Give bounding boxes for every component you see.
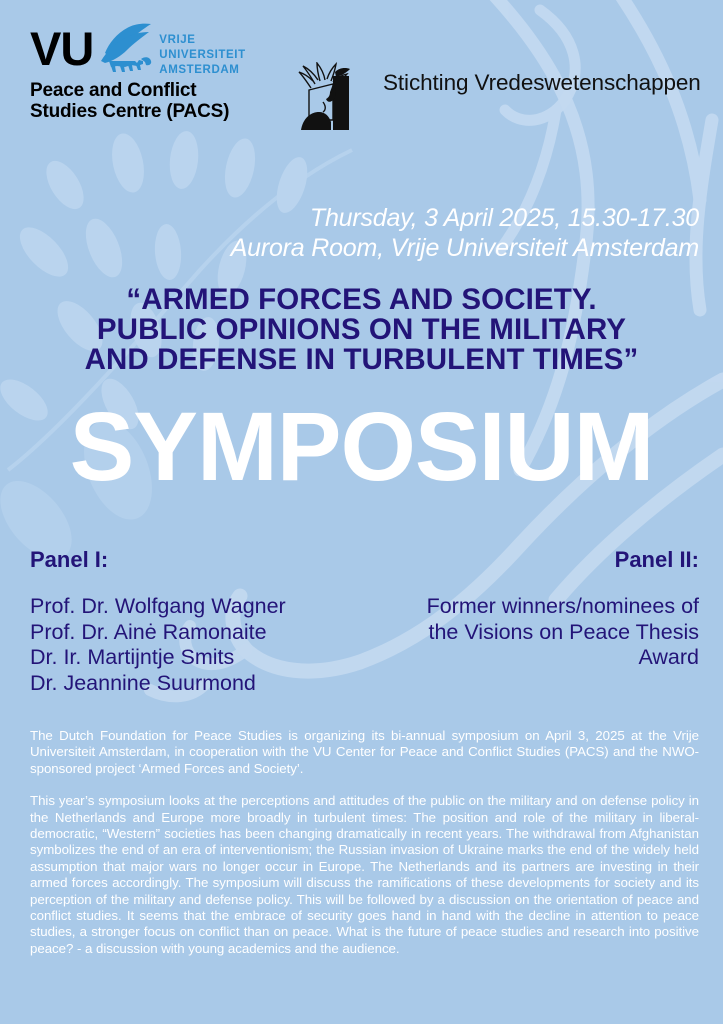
body-paragraph-2: This year’s symposium looks at the perce… (30, 793, 699, 957)
pacs-subtitle-line-1: Peace and Conflict (30, 80, 246, 101)
vu-griffin-icon (95, 23, 153, 78)
panel-1-speaker-2: Prof. Dr. Ainė Ramonaite (30, 620, 286, 646)
vu-logo-letters: VU (30, 27, 93, 71)
page-title-line-1: “ARMED FORCES AND SOCIETY. (0, 285, 723, 315)
panel-1-speaker-4: Dr. Jeannine Suurmond (30, 671, 286, 697)
vu-wordmark: VRIJE UNIVERSITEIT AMSTERDAM (159, 33, 245, 78)
event-details: Thursday, 3 April 2025, 15.30-17.30 Auro… (0, 203, 699, 263)
header: VU VRIJE UNIVERSITEIT (0, 0, 723, 140)
panel-2-description-line-3: Award (427, 645, 699, 671)
panel-2-heading: Panel II: (615, 548, 699, 572)
vu-word-line-2: UNIVERSITEIT (159, 48, 245, 63)
event-location: Aurora Room, Vrije Universiteit Amsterda… (0, 233, 699, 263)
panel-1-heading: Panel I: (30, 548, 108, 572)
page-title-line-2: PUBLIC OPINIONS ON THE MILITARY (0, 315, 723, 345)
vu-logo: VU VRIJE UNIVERSITEIT (30, 27, 246, 122)
pacs-subtitle: Peace and Conflict Studies Centre (PACS) (30, 80, 246, 122)
panel-2-description-line-2: the Visions on Peace Thesis (427, 620, 699, 646)
vu-word-line-1: VRIJE (159, 33, 245, 48)
page-title: “ARMED FORCES AND SOCIETY. PUBLIC OPINIO… (0, 285, 723, 375)
event-date-time: Thursday, 3 April 2025, 15.30-17.30 (0, 203, 699, 233)
pacs-subtitle-line-2: Studies Centre (PACS) (30, 101, 246, 122)
panel-2-description: Former winners/nominees of the Visions o… (427, 594, 699, 696)
body-copy: The Dutch Foundation for Peace Studies i… (30, 728, 699, 973)
panel-1-speakers: Prof. Dr. Wolfgang Wagner Prof. Dr. Ainė… (30, 594, 286, 696)
panel-1-speaker-3: Dr. Ir. Martijntje Smits (30, 645, 286, 671)
poster: VU VRIJE UNIVERSITEIT (0, 0, 723, 1024)
panels-section: Panel I: Panel II: Prof. Dr. Wolfgang Wa… (30, 548, 699, 696)
foundation-name: Stichting Vredeswetenschappen (383, 70, 701, 96)
page-title-line-3: AND DEFENSE IN TURBULENT TIMES” (0, 345, 723, 375)
panel-2-description-line-1: Former winners/nominees of (427, 594, 699, 620)
headline-symposium: SYMPOSIUM (0, 398, 723, 495)
vu-word-line-3: AMSTERDAM (159, 63, 245, 78)
peace-dove-face-icon (293, 62, 355, 137)
body-paragraph-1: The Dutch Foundation for Peace Studies i… (30, 728, 699, 777)
panel-1-speaker-1: Prof. Dr. Wolfgang Wagner (30, 594, 286, 620)
